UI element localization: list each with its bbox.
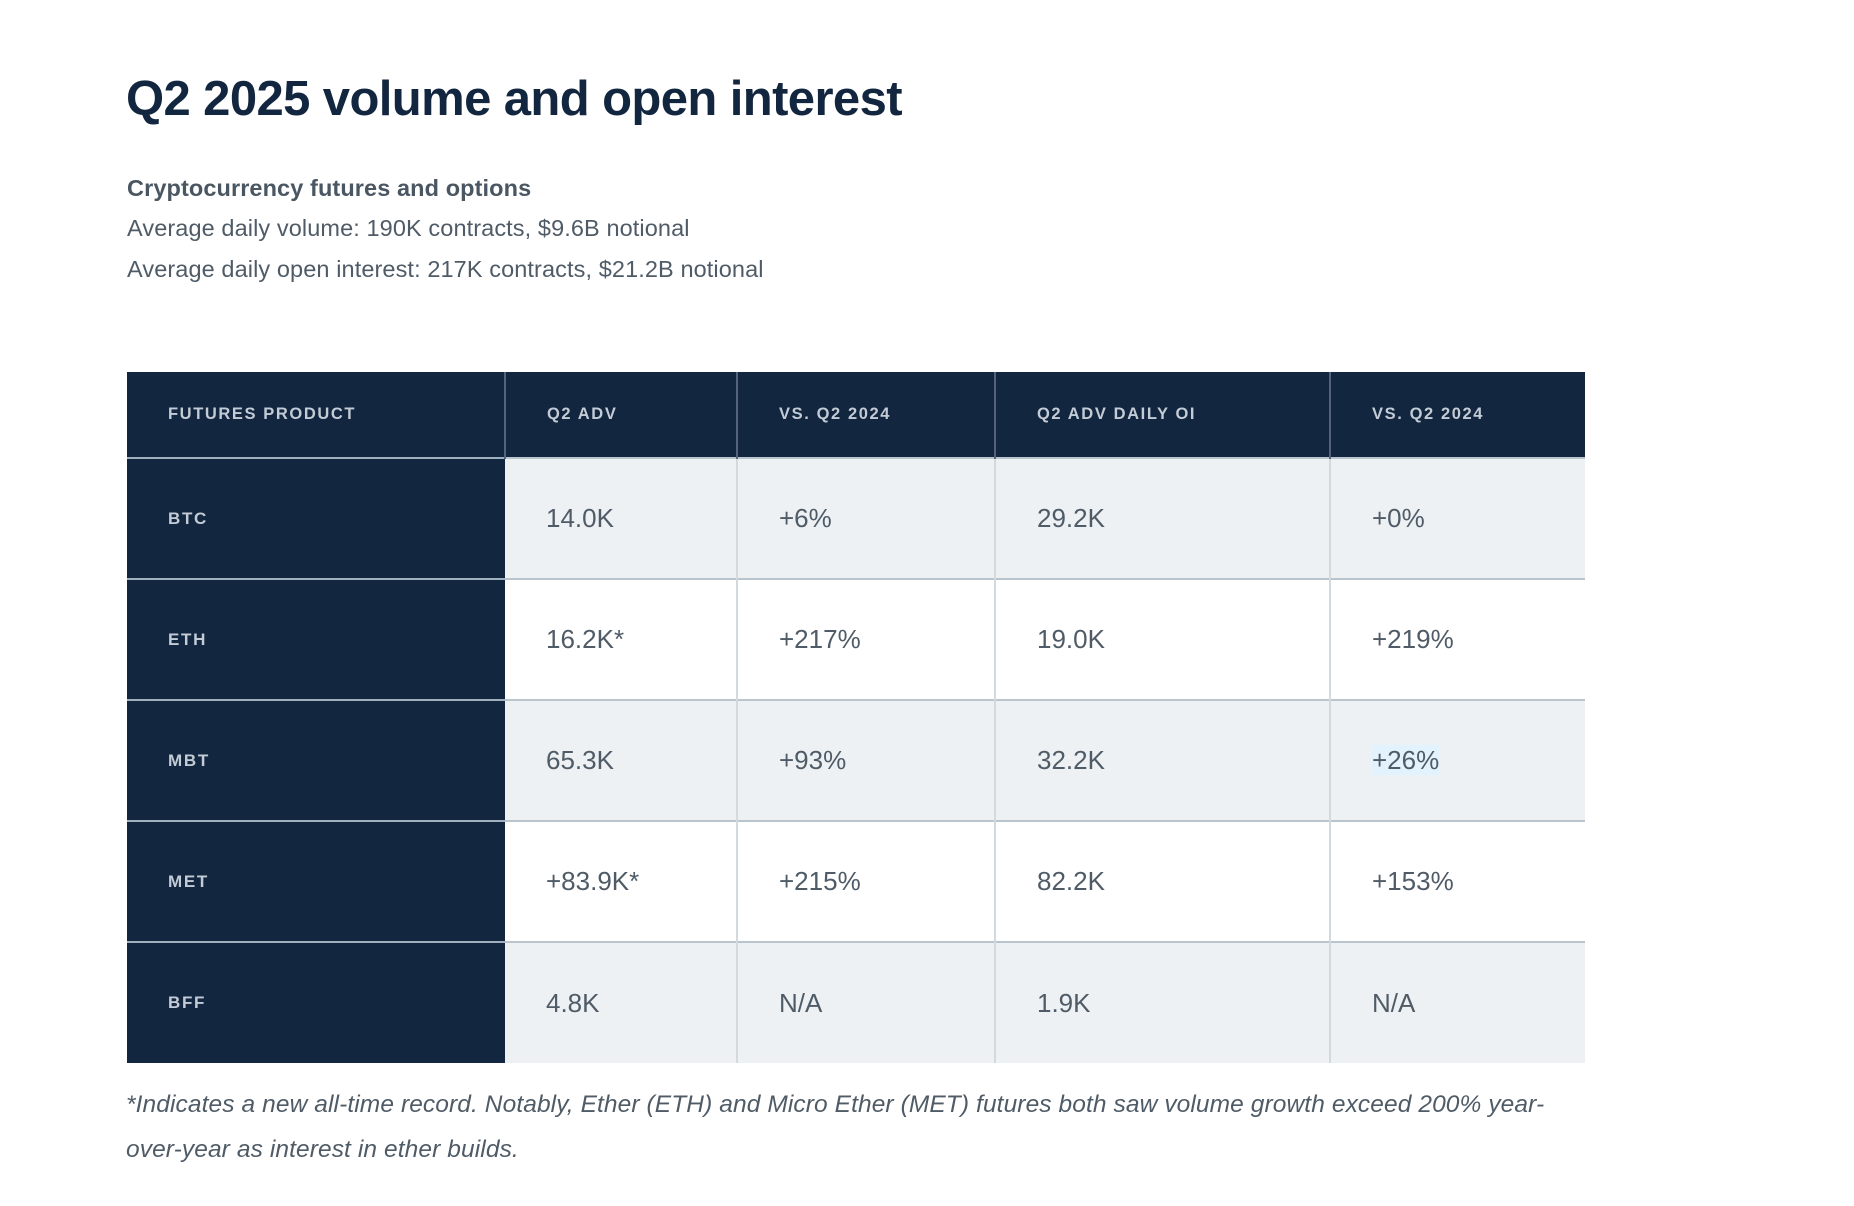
cell-met-oi-vs-q2-2024: +153% [1330,821,1585,942]
summary-average-daily-volume: Average daily volume: 190K contracts, $9… [127,208,764,248]
table-footnote: *Indicates a new all-time record. Notabl… [126,1082,1546,1173]
row-label-bff: BFF [127,942,505,1063]
cell-btc-oi-vs-q2-2024: +0% [1330,458,1585,579]
cell-eth-adv-vs-q2-2024: +217% [737,579,995,700]
futures-products-table: Futures product Q2 ADV vs. Q2 2024 Q2 AD… [127,372,1585,1063]
table-row: BFF 4.8K N/A 1.9K N/A [127,942,1585,1063]
table-row: MET +83.9K* +215% 82.2K +153% [127,821,1585,942]
summary-average-daily-open-interest: Average daily open interest: 217K contra… [127,249,764,289]
cell-btc-adv-vs-q2-2024: +6% [737,458,995,579]
cell-mbt-oi-vs-q2-2024: +26% [1330,700,1585,821]
cell-mbt-adv-vs-q2-2024: +93% [737,700,995,821]
summary-block: Cryptocurrency futures and options Avera… [127,168,764,289]
cell-met-q2-adv-daily-oi: 82.2K [995,821,1330,942]
report-page: Q2 2025 volume and open interest Cryptoc… [0,0,1854,1206]
cell-btc-q2-adv-daily-oi: 29.2K [995,458,1330,579]
summary-category: Cryptocurrency futures and options [127,168,764,208]
page-title: Q2 2025 volume and open interest [126,73,902,127]
column-header-futures-product: Futures product [127,372,505,458]
cell-eth-q2-adv: 16.2K* [505,579,737,700]
row-label-btc: BTC [127,458,505,579]
cell-bff-adv-vs-q2-2024: N/A [737,942,995,1063]
column-header-q2-adv: Q2 ADV [505,372,737,458]
column-header-oi-vs-q2-2024: vs. Q2 2024 [1330,372,1585,458]
cell-bff-q2-adv-daily-oi: 1.9K [995,942,1330,1063]
column-header-adv-vs-q2-2024: vs. Q2 2024 [737,372,995,458]
table-header-row: Futures product Q2 ADV vs. Q2 2024 Q2 AD… [127,372,1585,458]
cell-eth-oi-vs-q2-2024: +219% [1330,579,1585,700]
column-header-q2-adv-daily-oi: Q2 ADV Daily OI [995,372,1330,458]
cell-mbt-q2-adv: 65.3K [505,700,737,821]
cell-bff-oi-vs-q2-2024: N/A [1330,942,1585,1063]
table-row: BTC 14.0K +6% 29.2K +0% [127,458,1585,579]
row-label-eth: ETH [127,579,505,700]
cell-eth-q2-adv-daily-oi: 19.0K [995,579,1330,700]
cell-mbt-q2-adv-daily-oi: 32.2K [995,700,1330,821]
cell-bff-q2-adv: 4.8K [505,942,737,1063]
cell-met-adv-vs-q2-2024: +215% [737,821,995,942]
cell-btc-q2-adv: 14.0K [505,458,737,579]
row-label-mbt: MBT [127,700,505,821]
selected-text-highlight: +26% [1372,745,1439,775]
row-label-met: MET [127,821,505,942]
cell-met-q2-adv: +83.9K* [505,821,737,942]
table-row: ETH 16.2K* +217% 19.0K +219% [127,579,1585,700]
table-row: MBT 65.3K +93% 32.2K +26% [127,700,1585,821]
